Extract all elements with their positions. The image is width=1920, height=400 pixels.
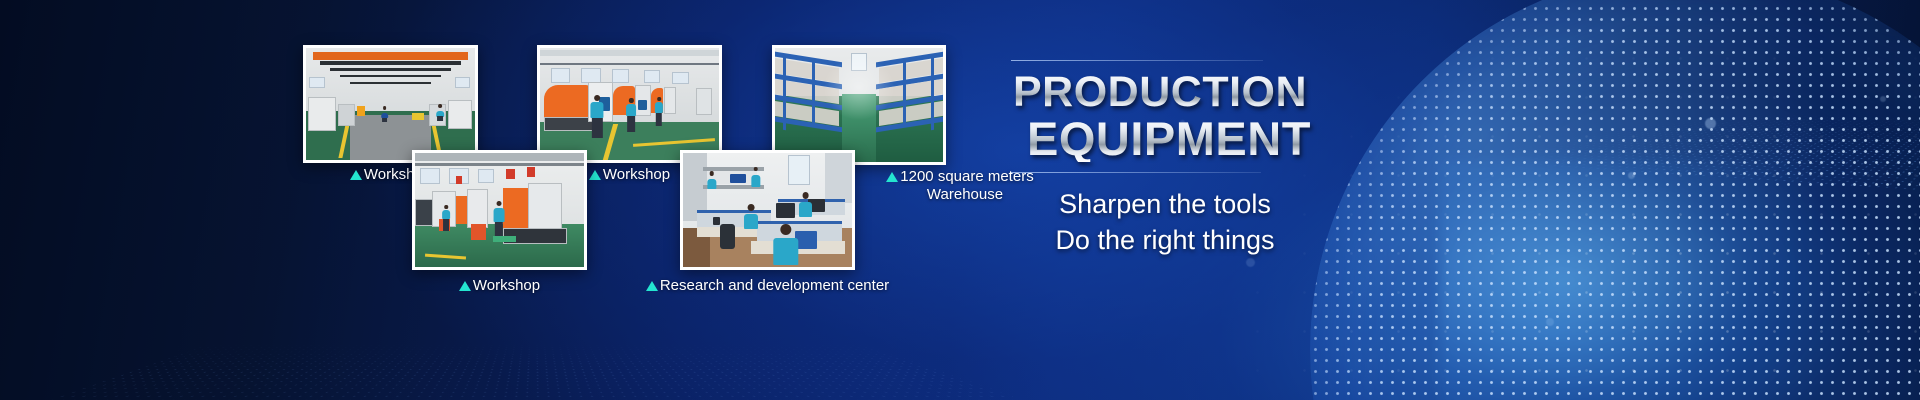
bokeh-dot <box>1880 96 1886 102</box>
production-equipment-banner: Workshop <box>0 0 1920 400</box>
caption-text: Workshop <box>473 277 540 294</box>
caption-text: Workshop <box>603 166 670 183</box>
photo-caption-workshop-machining: Workshop <box>412 277 587 294</box>
bokeh-dot <box>1705 118 1716 129</box>
bokeh-dot <box>1546 318 1554 326</box>
photo-image-workshop-overview <box>306 48 475 160</box>
photo-card-workshop-cnc-line[interactable] <box>537 45 722 163</box>
subtitle-line2: Do the right things <box>1029 223 1301 259</box>
divider-top <box>1011 60 1263 61</box>
headline-block: PRODUCTION EQUIPMENT Sharpen the tools D… <box>1005 60 1525 258</box>
dot-grid-left <box>0 345 1110 400</box>
photo-caption-rnd-center: Research and development center <box>660 277 875 294</box>
subtitle-block: Sharpen the tools Do the right things <box>1029 187 1301 258</box>
page-title-line1: PRODUCTION <box>1013 71 1525 113</box>
photo-image-workshop-machining <box>415 153 584 267</box>
triangle-bullet-icon <box>646 281 658 291</box>
subtitle-line1: Sharpen the tools <box>1029 187 1301 223</box>
photo-image-workshop-cnc-line <box>540 48 719 160</box>
photo-card-rnd-center[interactable] <box>680 150 855 270</box>
photo-card-workshop-overview[interactable] <box>303 45 478 163</box>
photo-card-workshop-machining[interactable] <box>412 150 587 270</box>
triangle-bullet-icon <box>886 172 898 182</box>
photo-card-warehouse[interactable] <box>772 45 946 165</box>
triangle-bullet-icon <box>589 170 601 180</box>
bokeh-dot <box>1628 172 1635 179</box>
triangle-bullet-icon <box>459 281 471 291</box>
divider-bottom <box>1011 172 1261 173</box>
photo-image-warehouse <box>775 48 943 162</box>
bokeh-dot <box>1246 258 1255 267</box>
page-title-line2: EQUIPMENT <box>1027 116 1525 162</box>
caption-text: Research and development center <box>660 277 889 294</box>
photo-image-rnd-center <box>683 153 852 267</box>
triangle-bullet-icon <box>350 170 362 180</box>
dot-mesh-top-right <box>1469 97 1920 200</box>
